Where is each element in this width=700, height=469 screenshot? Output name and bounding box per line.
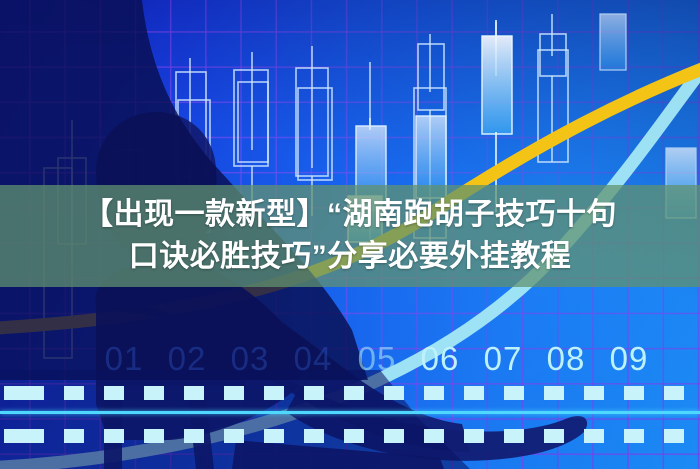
axis-label-09: 09 (610, 338, 649, 380)
dash-strip-bottom (0, 429, 700, 443)
axis-label-02: 02 (168, 338, 207, 380)
axis-label-06: 06 (421, 338, 460, 380)
axis-label-08: 08 (547, 338, 586, 380)
title-line-2: 口诀必胜技巧”分享必要外挂教程 (129, 237, 572, 277)
dash-strip-top (0, 386, 700, 400)
axis-label-04: 04 (294, 338, 333, 380)
axis-labels: 010203040506070809 (0, 338, 700, 380)
page-title: 【出现一款新型】“湖南跑胡子技巧十句 口诀必胜技巧”分享必要外挂教程 (0, 185, 700, 287)
title-line-1: 【出现一款新型】“湖南跑胡子技巧十句 (83, 195, 617, 235)
axis-label-07: 07 (484, 338, 523, 380)
accent-divider-line (0, 411, 700, 414)
axis-label-05: 05 (358, 338, 397, 380)
axis-label-01: 01 (105, 338, 144, 380)
banner-image: 【出现一款新型】“湖南跑胡子技巧十句 口诀必胜技巧”分享必要外挂教程 01020… (0, 0, 700, 469)
axis-label-03: 03 (231, 338, 270, 380)
